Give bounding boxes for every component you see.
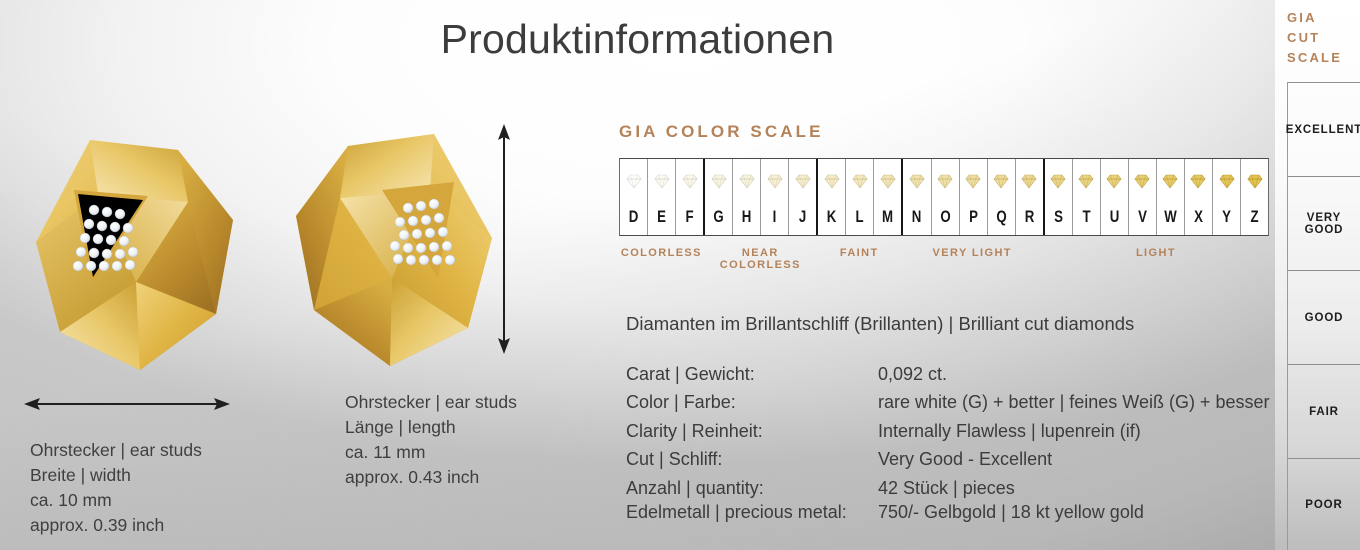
color-scale-letter: U bbox=[1104, 207, 1125, 227]
spec-row: Carat | Gewicht:0,092 ct. bbox=[626, 360, 1269, 388]
diamond-icon bbox=[737, 170, 757, 192]
cut-scale-heading-line1: GIA bbox=[1287, 8, 1342, 28]
width-caption-line4: approx. 0.39 inch bbox=[30, 513, 202, 538]
cut-scale-heading-line2: CUT bbox=[1287, 28, 1342, 48]
width-caption: Ohrstecker | ear studs Breite | width ca… bbox=[30, 438, 202, 537]
color-scale-letter: Q bbox=[991, 207, 1012, 227]
precious-metal-value: 750/- Gelbgold | 18 kt yellow gold bbox=[878, 502, 1144, 523]
gia-cut-scale: GIA CUT SCALE EXCELLENTVERY GOODGOODFAIR… bbox=[1275, 0, 1360, 550]
diamond-icon bbox=[1076, 170, 1096, 192]
length-dimension-arrow bbox=[496, 124, 512, 354]
spec-value: Very Good - Excellent bbox=[878, 445, 1269, 473]
color-scale-cell-s: S bbox=[1043, 159, 1072, 235]
page-title: Produktinformationen bbox=[0, 16, 1275, 63]
color-scale-cell-i: I bbox=[760, 159, 788, 235]
length-caption: Ohrstecker | ear studs Länge | length ca… bbox=[345, 390, 517, 489]
color-scale-letter: E bbox=[651, 207, 672, 227]
spec-intro: Diamanten im Brillantschliff (Brillanten… bbox=[626, 313, 1134, 335]
width-caption-line3: ca. 10 mm bbox=[30, 488, 202, 513]
cut-scale-item-fair: FAIR bbox=[1288, 364, 1360, 458]
color-scale-cell-g: G bbox=[703, 159, 732, 235]
color-scale-heading: GIA COLOR SCALE bbox=[619, 122, 1274, 142]
color-scale-letter: J bbox=[792, 207, 813, 227]
earring-photo-left bbox=[28, 132, 248, 382]
spec-value: Internally Flawless | lupenrein (if) bbox=[878, 417, 1269, 445]
color-scale-letter: H bbox=[736, 207, 757, 227]
spec-label: Color | Farbe: bbox=[626, 388, 878, 416]
color-scale-letter: D bbox=[623, 207, 644, 227]
width-caption-line1: Ohrstecker | ear studs bbox=[30, 438, 202, 463]
color-scale-cell-w: W bbox=[1156, 159, 1184, 235]
spec-value: rare white (G) + better | feines Weiß (G… bbox=[878, 388, 1269, 416]
color-scale-cell-m: M bbox=[873, 159, 901, 235]
color-scale-cell-j: J bbox=[788, 159, 816, 235]
color-scale-cell-k: K bbox=[816, 159, 845, 235]
cut-scale-item-good: GOOD bbox=[1288, 270, 1360, 364]
color-scale-group-near-colorless: NEAR COLORLESS bbox=[704, 247, 817, 271]
diamond-icon bbox=[652, 170, 672, 192]
cut-scale-list: EXCELLENTVERY GOODGOODFAIRPOOR bbox=[1287, 82, 1360, 550]
diamond-icon bbox=[850, 170, 870, 192]
color-scale-letter: S bbox=[1048, 207, 1069, 227]
diamond-icon bbox=[878, 170, 898, 192]
color-scale-cell-v: V bbox=[1128, 159, 1156, 235]
spec-row: Cut | Schliff:Very Good - Excellent bbox=[626, 445, 1269, 473]
color-scale-cell-n: N bbox=[901, 159, 930, 235]
length-caption-line4: approx. 0.43 inch bbox=[345, 465, 517, 490]
length-caption-line1: Ohrstecker | ear studs bbox=[345, 390, 517, 415]
spec-label: Carat | Gewicht: bbox=[626, 360, 878, 388]
diamond-icon bbox=[765, 170, 785, 192]
product-photo-area bbox=[10, 118, 540, 388]
color-scale-cell-z: Z bbox=[1240, 159, 1268, 235]
diamond-icon bbox=[1217, 170, 1237, 192]
spec-label: Cut | Schliff: bbox=[626, 445, 878, 473]
length-caption-line3: ca. 11 mm bbox=[345, 440, 517, 465]
gia-color-scale: GIA COLOR SCALE DEFGHIJKLMNOPQRSTUVWXYZ … bbox=[619, 122, 1274, 269]
width-dimension-arrow bbox=[24, 396, 230, 412]
color-scale-cell-q: Q bbox=[987, 159, 1015, 235]
color-scale-group-faint: FAINT bbox=[817, 247, 902, 259]
color-scale-cell-u: U bbox=[1100, 159, 1128, 235]
color-scale-letter: L bbox=[849, 207, 870, 227]
diamond-icon bbox=[935, 170, 955, 192]
diamond-icon bbox=[907, 170, 927, 192]
diamond-icon bbox=[624, 170, 644, 192]
diamond-icon bbox=[680, 170, 700, 192]
diamond-icon bbox=[1104, 170, 1124, 192]
color-scale-letter: F bbox=[679, 207, 700, 227]
diamond-icon bbox=[991, 170, 1011, 192]
color-scale-letter: K bbox=[821, 207, 842, 227]
color-scale-letter: M bbox=[877, 207, 898, 227]
spec-row: Color | Farbe:rare white (G) + better | … bbox=[626, 388, 1269, 416]
spec-row: Anzahl | quantity:42 Stück | pieces bbox=[626, 474, 1269, 502]
spec-table: Carat | Gewicht:0,092 ct.Color | Farbe:r… bbox=[626, 360, 1269, 502]
width-caption-line2: Breite | width bbox=[30, 463, 202, 488]
color-scale-letter: G bbox=[708, 207, 729, 227]
color-scale-letter: Z bbox=[1244, 207, 1265, 227]
diamond-icon bbox=[1048, 170, 1068, 192]
spec-label: Clarity | Reinheit: bbox=[626, 417, 878, 445]
color-scale-cell-o: O bbox=[931, 159, 959, 235]
color-scale-letter: V bbox=[1132, 207, 1153, 227]
color-scale-letter: T bbox=[1076, 207, 1097, 227]
color-scale-letter: N bbox=[906, 207, 927, 227]
cut-scale-item-very-good: VERY GOOD bbox=[1288, 176, 1360, 270]
diamond-icon bbox=[709, 170, 729, 192]
diamond-icon bbox=[793, 170, 813, 192]
cut-scale-item-poor: POOR bbox=[1288, 458, 1360, 550]
cut-scale-heading: GIA CUT SCALE bbox=[1287, 8, 1342, 67]
spec-label: Anzahl | quantity: bbox=[626, 474, 878, 502]
color-scale-cell-p: P bbox=[959, 159, 987, 235]
color-scale-letter: I bbox=[764, 207, 785, 227]
diamond-icon bbox=[822, 170, 842, 192]
color-scale-letter: Y bbox=[1216, 207, 1237, 227]
spec-value: 42 Stück | pieces bbox=[878, 474, 1269, 502]
color-scale-group-labels: COLORLESSNEAR COLORLESSFAINTVERY LIGHTLI… bbox=[619, 247, 1269, 269]
color-scale-cell-h: H bbox=[732, 159, 760, 235]
color-scale-cell-x: X bbox=[1184, 159, 1212, 235]
precious-metal-row: Edelmetall | precious metal: 750/- Gelbg… bbox=[626, 502, 1144, 523]
diamond-icon bbox=[1132, 170, 1152, 192]
cut-scale-item-excellent: EXCELLENT bbox=[1288, 82, 1360, 176]
diamond-icon bbox=[1245, 170, 1265, 192]
color-scale-cell-l: L bbox=[845, 159, 873, 235]
earring-photo-right bbox=[286, 124, 501, 374]
spec-value: 0,092 ct. bbox=[878, 360, 1269, 388]
diamond-icon bbox=[1188, 170, 1208, 192]
color-scale-letter: O bbox=[934, 207, 955, 227]
color-scale-letter: P bbox=[963, 207, 984, 227]
color-scale-table: DEFGHIJKLMNOPQRSTUVWXYZ bbox=[619, 158, 1269, 236]
color-scale-cell-y: Y bbox=[1212, 159, 1240, 235]
cut-scale-heading-line3: SCALE bbox=[1287, 48, 1342, 68]
color-scale-group-light: LIGHT bbox=[1043, 247, 1269, 259]
color-scale-group-colorless: COLORLESS bbox=[619, 247, 704, 259]
color-scale-cell-d: D bbox=[620, 159, 647, 235]
length-caption-line2: Länge | length bbox=[345, 415, 517, 440]
diamond-icon bbox=[963, 170, 983, 192]
diamond-icon bbox=[1019, 170, 1039, 192]
color-scale-cell-f: F bbox=[675, 159, 703, 235]
color-scale-letter: R bbox=[1019, 207, 1040, 227]
color-scale-cell-e: E bbox=[647, 159, 675, 235]
color-scale-cell-t: T bbox=[1072, 159, 1100, 235]
color-scale-cell-r: R bbox=[1015, 159, 1043, 235]
spec-row: Clarity | Reinheit:Internally Flawless |… bbox=[626, 417, 1269, 445]
diamond-icon bbox=[1160, 170, 1180, 192]
precious-metal-label: Edelmetall | precious metal: bbox=[626, 502, 878, 523]
color-scale-letter: X bbox=[1188, 207, 1209, 227]
color-scale-letter: W bbox=[1160, 207, 1181, 227]
color-scale-group-very-light: VERY LIGHT bbox=[902, 247, 1043, 259]
